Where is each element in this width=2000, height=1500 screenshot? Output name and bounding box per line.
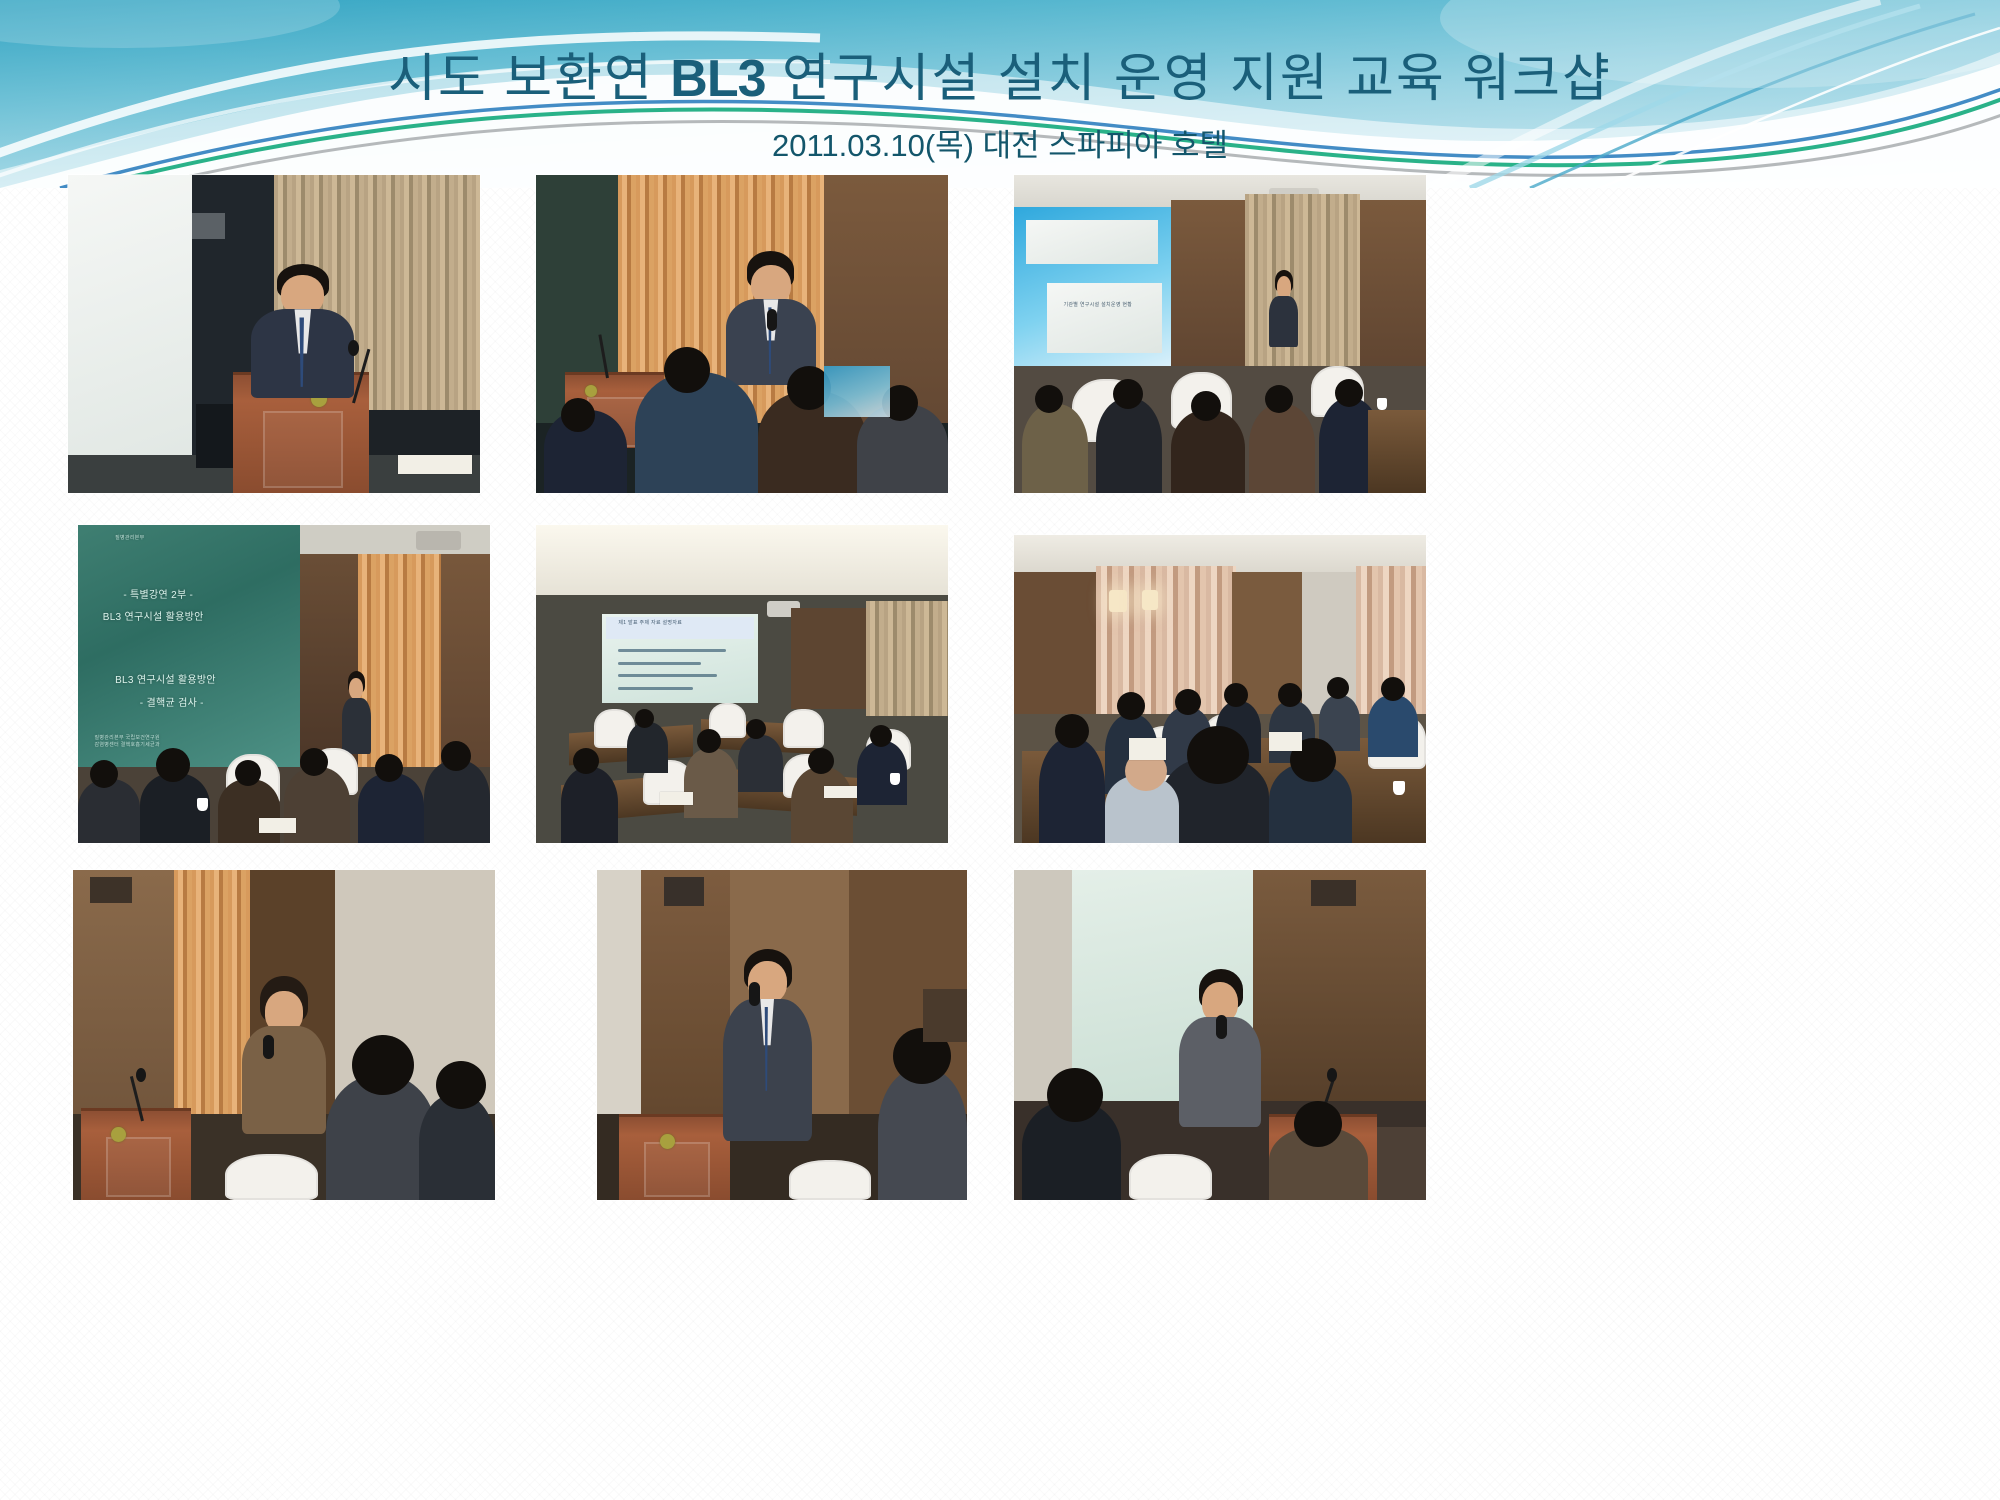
slide-4-title-line2: BL3 연구시설 활용방안 [103, 611, 204, 625]
photo-9[interactable] [1014, 870, 1426, 1200]
photo-1[interactable] [68, 175, 480, 493]
banner-wave-graphic [0, 0, 2000, 188]
photo-8[interactable] [597, 870, 967, 1200]
slide-4-title-line1: - 특별강연 2부 - [123, 589, 193, 603]
slide-4-header: 질병관리본부 [115, 535, 144, 542]
photo-7[interactable] [73, 870, 495, 1200]
photo-grid: 기관별 연구시설 설치운영 현황 [0, 205, 2000, 1500]
slide-canvas: 시도 보환연 BL3 연구시설 설치 운영 지원 교육 워크샵 2011.03.… [0, 0, 2000, 1500]
slide-4-footer: 질병관리본부 국립보건연구원 감염병센터 결핵호흡기세균과 [94, 735, 159, 750]
slide-4-heading-line2: - 결핵균 검사 - [140, 697, 204, 711]
header-banner: 시도 보환연 BL3 연구시설 설치 운영 지원 교육 워크샵 2011.03.… [0, 0, 2000, 188]
photo-5[interactable]: 제1 발표 주제 자료 설명자료 [536, 525, 948, 843]
photo-2[interactable] [536, 175, 948, 493]
slide-4-heading-line1: BL3 연구시설 활용방안 [115, 674, 216, 688]
photo-6[interactable] [1014, 535, 1426, 843]
photo-3[interactable]: 기관별 연구시설 설치운영 현황 [1014, 175, 1426, 493]
photo-4[interactable]: 질병관리본부 - 특별강연 2부 - BL3 연구시설 활용방안 BL3 연구시… [78, 525, 490, 843]
